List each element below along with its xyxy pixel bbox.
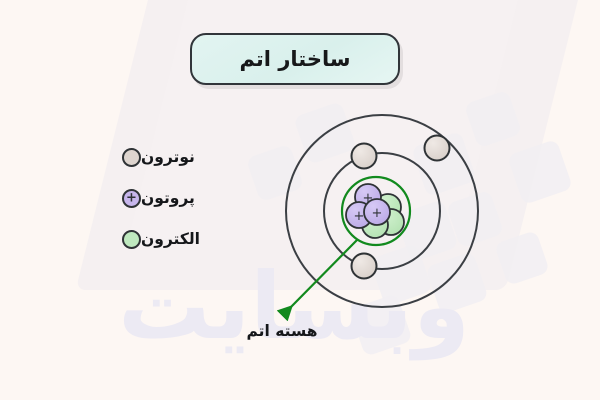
atom-structure-infographic: وبسایت ساختار اتم نوترون + پروتون الکترو… (0, 0, 600, 400)
nucleus-proton-2-plus-icon: + (354, 209, 365, 224)
nucleus-proton-3-plus-icon: + (372, 206, 383, 221)
nucleus-label: هسته اتم (222, 322, 342, 340)
orbit-particle-inner-bottom (352, 254, 377, 279)
orbit-particle-outer-top-right (425, 136, 450, 161)
atom-diagram: + + + (0, 0, 600, 400)
orbit-particle-inner-top (352, 144, 377, 169)
nucleus: + + + (342, 177, 410, 245)
